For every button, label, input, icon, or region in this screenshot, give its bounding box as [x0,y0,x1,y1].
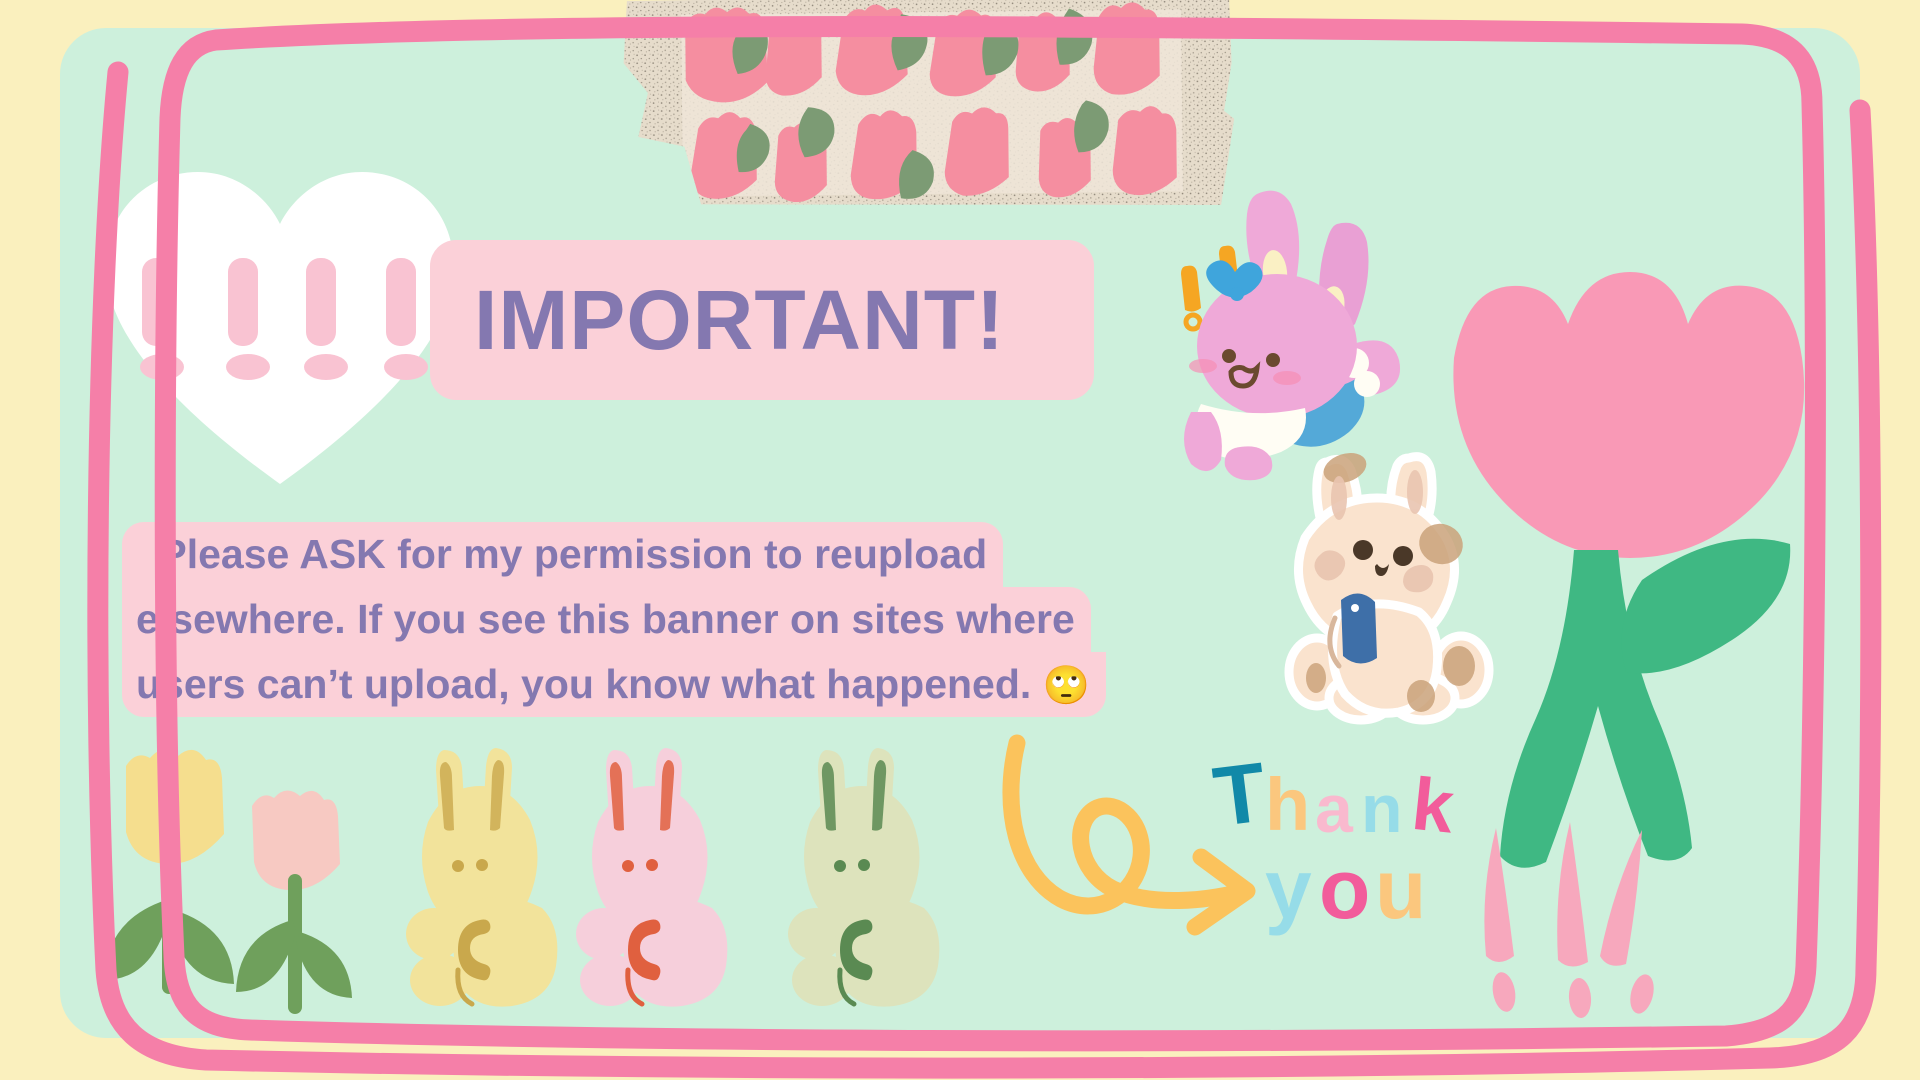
svg-text:o: o [1319,842,1370,936]
svg-text:u: u [1375,842,1426,936]
bunny-with-phone-sticker [1283,450,1503,722]
bunny-cookie-green [782,748,952,1008]
message-line-3: users can’t upload, you know what happen… [122,652,1106,717]
svg-text:a: a [1315,771,1354,847]
message-line-3-text: users can’t upload, you know what happen… [136,661,1043,707]
bunny-cookie-yellow [400,748,570,1008]
page-title: IMPORTANT! [474,278,1005,362]
svg-text:T: T [1209,744,1271,844]
heart-with-exclamations-icon [100,162,460,492]
svg-text:y: y [1265,842,1312,936]
bunny-cookie-pink [570,748,740,1008]
excited-bunny-sticker [1125,172,1465,472]
message-line-1: Please ASK for my permission to reupload [122,522,1003,587]
important-heading-banner: IMPORTANT! [430,240,1094,400]
rolling-eyes-emoji: 🙄 [1043,665,1090,707]
banner-canvas: IMPORTANT! Please ASK for my permission … [0,0,1920,1080]
message-block: Please ASK for my permission to reupload… [122,522,1197,717]
svg-text:n: n [1361,771,1403,847]
svg-text:h: h [1265,763,1310,846]
message-line-2: elsewhere. If you see this banner on sit… [122,587,1091,652]
